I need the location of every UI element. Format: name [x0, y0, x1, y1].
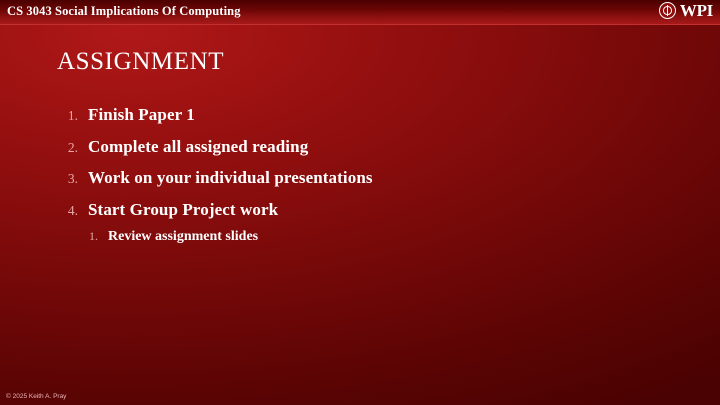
list-item: 4. Start Group Project work [52, 200, 672, 220]
list-subitem-number: 1. [72, 229, 98, 244]
list-subitem: 1. Review assignment slides [72, 229, 672, 245]
wpi-seal-icon [659, 2, 676, 19]
list-item: 1. Finish Paper 1 [52, 105, 672, 125]
list-item-label: Start Group Project work [88, 200, 278, 220]
slide-header-banner: CS 3043 Social Implications Of Computing… [0, 0, 720, 25]
list-item-number: 4. [52, 203, 78, 219]
list-item-label: Finish Paper 1 [88, 105, 195, 125]
page-title: ASSIGNMENT [57, 48, 224, 76]
list-item-label: Work on your individual presentations [88, 168, 373, 188]
copyright-footer: © 2025 Keith A. Pray [6, 393, 66, 400]
list-item: 3. Work on your individual presentations [52, 168, 672, 188]
list-item-number: 1. [52, 108, 78, 124]
wpi-logo-text: WPI [680, 2, 713, 19]
list-item-number: 2. [52, 140, 78, 156]
list-subitem-label: Review assignment slides [108, 229, 258, 245]
list-item-label: Complete all assigned reading [88, 137, 308, 157]
slide: CS 3043 Social Implications Of Computing… [0, 0, 720, 405]
wpi-logo: WPI [659, 2, 713, 19]
course-title: CS 3043 Social Implications Of Computing [7, 4, 241, 19]
list-item-number: 3. [52, 171, 78, 187]
assignment-list: 1. Finish Paper 1 2. Complete all assign… [52, 105, 672, 245]
list-item: 2. Complete all assigned reading [52, 137, 672, 157]
